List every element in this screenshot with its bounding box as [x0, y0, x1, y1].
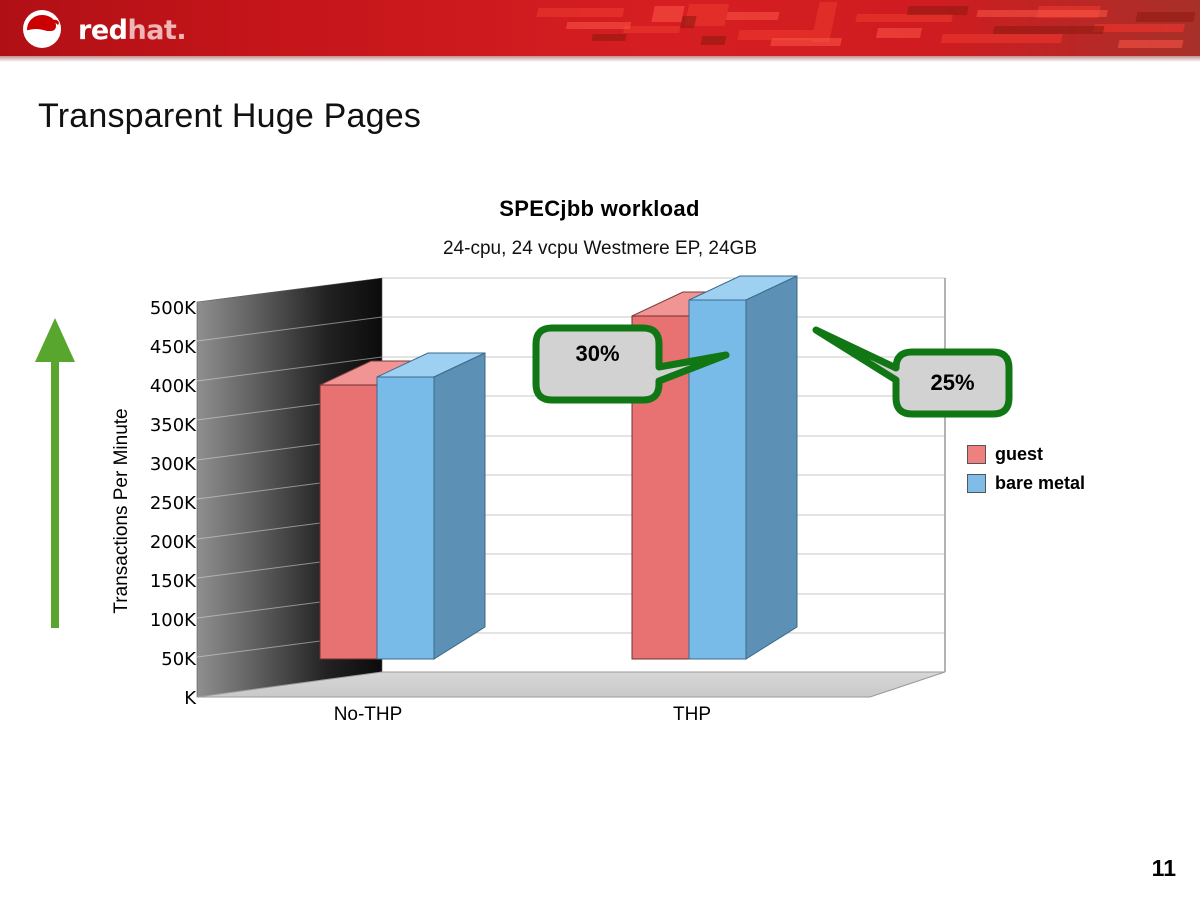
y-tick-50K: 50K	[128, 649, 196, 670]
legend-item-bare-metal[interactable]: bare metal	[967, 469, 1085, 498]
y-tick-500K: 500K	[128, 298, 196, 319]
y-tick-150K: 150K	[128, 571, 196, 592]
y-tick-350K: 350K	[128, 415, 196, 436]
chart-legend: guest bare metal	[967, 440, 1085, 498]
callout-30-label: 30%	[536, 341, 659, 367]
legend-label-guest: guest	[995, 444, 1043, 465]
x-tick-thp: THP	[612, 704, 772, 726]
page-number: 11	[1152, 855, 1176, 882]
legend-label-bare-metal: bare metal	[995, 473, 1085, 494]
y-tick-0: K	[128, 688, 196, 709]
chart-figure: Transactions Per Minute 500K 450K 400K 3…	[0, 0, 1200, 900]
bar-thp-baremetal-side	[746, 276, 797, 659]
legend-swatch-bare-metal	[967, 474, 986, 493]
legend-swatch-guest	[967, 445, 986, 464]
y-tick-400K: 400K	[128, 376, 196, 397]
growth-arrow-icon	[35, 318, 75, 628]
callout-25-label: 25%	[896, 370, 1009, 396]
bar-nothp-guest[interactable]	[320, 385, 377, 659]
legend-item-guest[interactable]: guest	[967, 440, 1085, 469]
y-tick-100K: 100K	[128, 610, 196, 631]
y-tick-300K: 300K	[128, 454, 196, 475]
x-tick-no-thp: No-THP	[288, 704, 448, 726]
y-tick-450K: 450K	[128, 337, 196, 358]
bar-nothp-baremetal-side	[434, 353, 485, 659]
y-tick-250K: 250K	[128, 493, 196, 514]
y-tick-200K: 200K	[128, 532, 196, 553]
bar-nothp-baremetal[interactable]	[377, 377, 434, 659]
